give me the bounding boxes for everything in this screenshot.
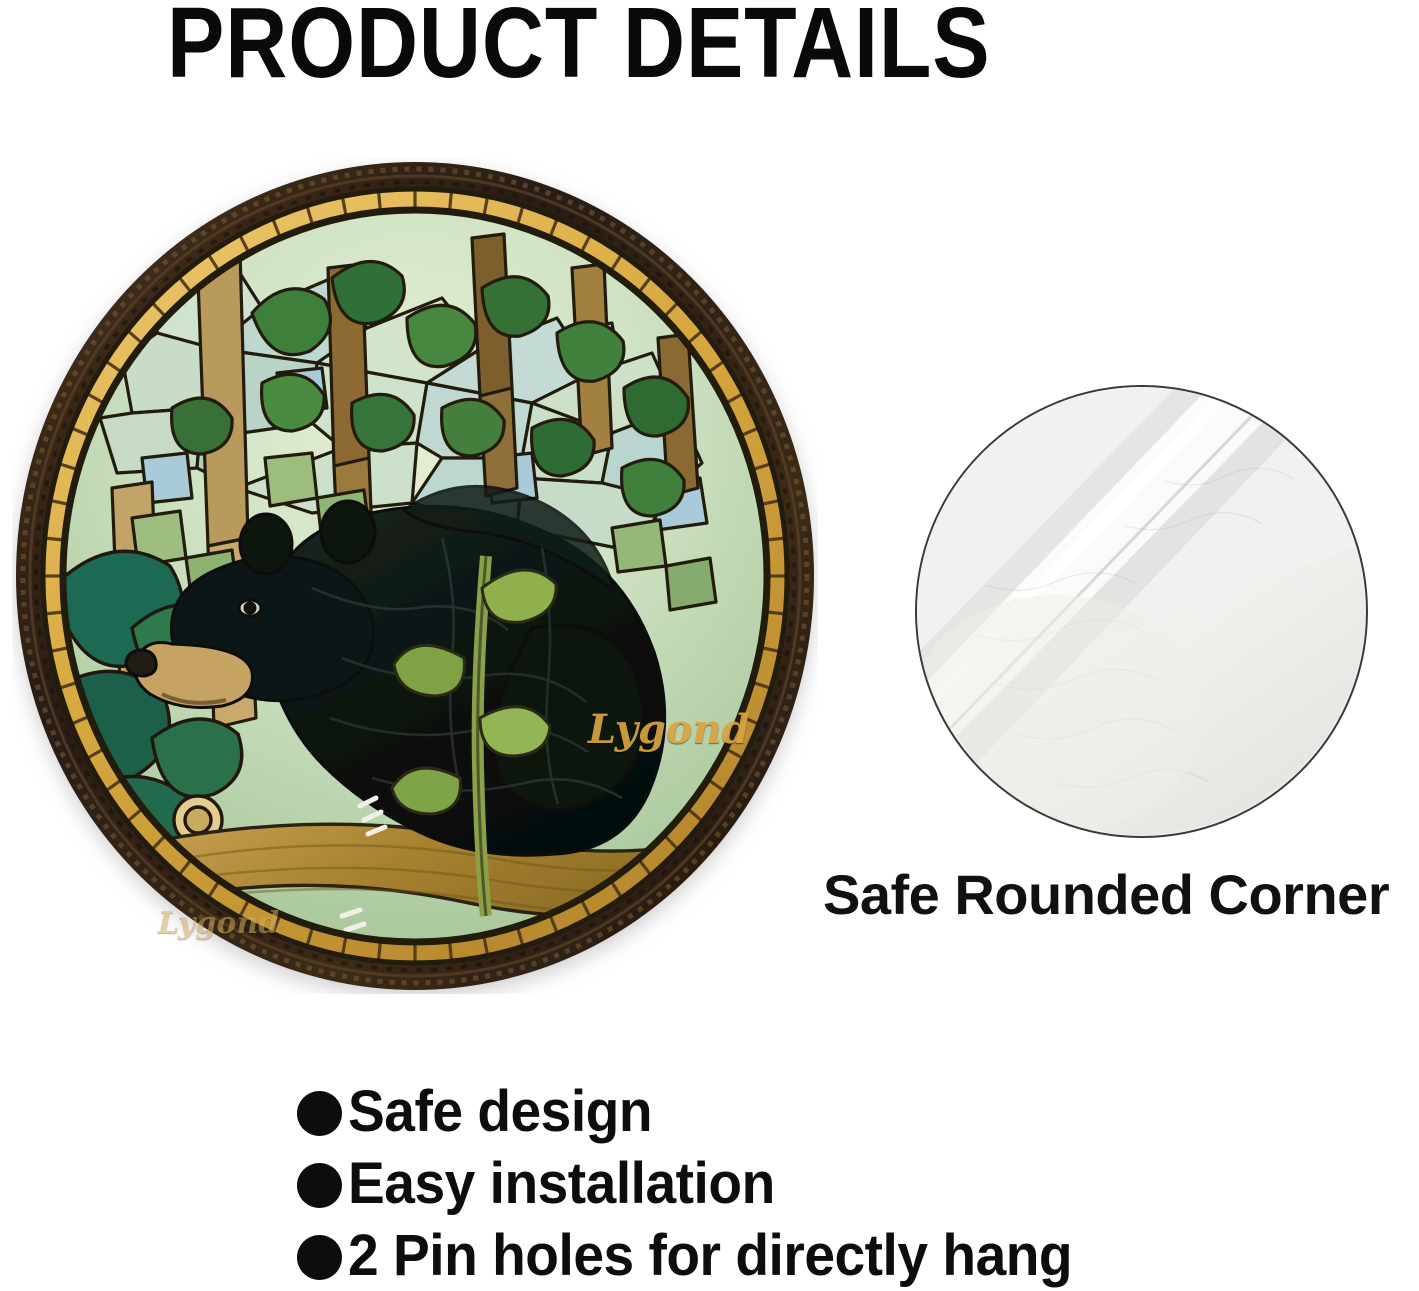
feature-label: 2 Pin holes for directly hang	[348, 1222, 1072, 1289]
bullet-dot-icon	[297, 1091, 342, 1136]
feature-label: Easy installation	[348, 1150, 775, 1217]
product-details-page: PRODUCT DETAILS	[0, 0, 1419, 1290]
bullet-dot-icon	[297, 1163, 342, 1208]
list-item: 2 Pin holes for directly hang	[297, 1219, 1110, 1291]
rounded-corner-closeup-image	[915, 385, 1368, 838]
page-title: PRODUCT DETAILS	[167, 0, 991, 101]
feature-list: Safe design Easy installation 2 Pin hole…	[297, 1075, 1110, 1291]
bullet-dot-icon	[297, 1235, 342, 1280]
rounded-corner-caption: Safe Rounded Corner	[823, 862, 1389, 927]
list-item: Easy installation	[297, 1147, 1110, 1219]
list-item: Safe design	[297, 1075, 1110, 1147]
product-image-stained-glass-disc: Lygond Lygond	[12, 158, 818, 994]
feature-label: Safe design	[348, 1078, 652, 1145]
